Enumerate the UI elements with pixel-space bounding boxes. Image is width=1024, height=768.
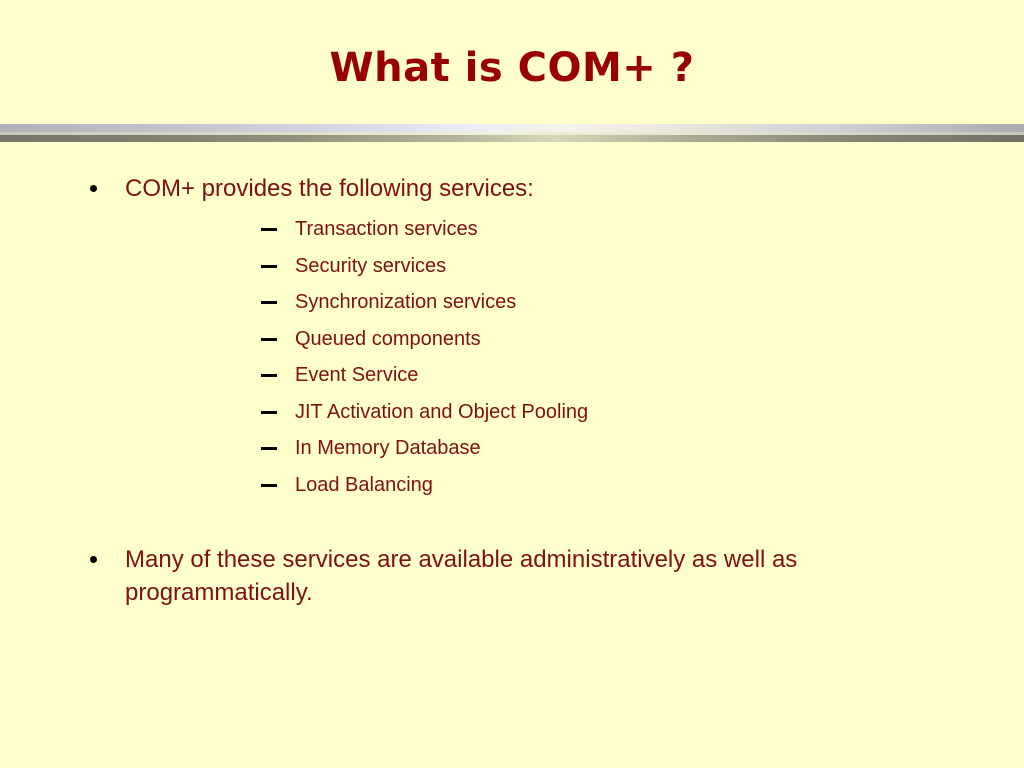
list-item-label: Load Balancing (295, 474, 433, 496)
list-item: Event Service (125, 357, 1024, 394)
bullet-list-level2: Transaction services Security services S… (125, 211, 1024, 503)
list-item: Security services (125, 248, 1024, 285)
en-dash-icon (261, 484, 277, 487)
en-dash-icon (261, 301, 277, 304)
slide-body: COM+ provides the following services: Tr… (0, 172, 1024, 609)
list-item: Load Balancing (125, 467, 1024, 504)
list-item: In Memory Database (125, 430, 1024, 467)
list-item-label: Synchronization services (295, 291, 516, 313)
en-dash-icon (261, 374, 277, 377)
list-item: Synchronization services (125, 284, 1024, 321)
list-item-label: Transaction services (295, 218, 478, 240)
bullet-list-level1: COM+ provides the following services: Tr… (0, 172, 1024, 609)
en-dash-icon (261, 265, 277, 268)
list-item-label: JIT Activation and Object Pooling (295, 401, 588, 423)
bullet-dot-icon (90, 185, 97, 192)
list-item-label: Security services (295, 255, 446, 277)
list-item: Queued components (125, 321, 1024, 358)
title-divider (0, 124, 1024, 142)
slide: What is COM+ ? COM+ provides the followi… (0, 0, 1024, 768)
en-dash-icon (261, 338, 277, 341)
list-item-label: COM+ provides the following services: (125, 172, 945, 205)
list-item: Many of these services are available adm… (0, 543, 1024, 609)
list-item-label: In Memory Database (295, 437, 481, 459)
list-item-label: Event Service (295, 364, 418, 386)
list-item-label: Many of these services are available adm… (125, 543, 945, 609)
en-dash-icon (261, 411, 277, 414)
list-item: COM+ provides the following services: Tr… (0, 172, 1024, 503)
list-spacer (0, 503, 1024, 543)
page-title: What is COM+ ? (0, 44, 1024, 92)
list-item: JIT Activation and Object Pooling (125, 394, 1024, 431)
list-item-label: Queued components (295, 328, 481, 350)
divider-bar-lower (0, 135, 1024, 142)
divider-bar-upper (0, 124, 1024, 132)
list-item: Transaction services (125, 211, 1024, 248)
title-area: What is COM+ ? (0, 44, 1024, 92)
en-dash-icon (261, 228, 277, 231)
bullet-dot-icon (90, 556, 97, 563)
en-dash-icon (261, 447, 277, 450)
